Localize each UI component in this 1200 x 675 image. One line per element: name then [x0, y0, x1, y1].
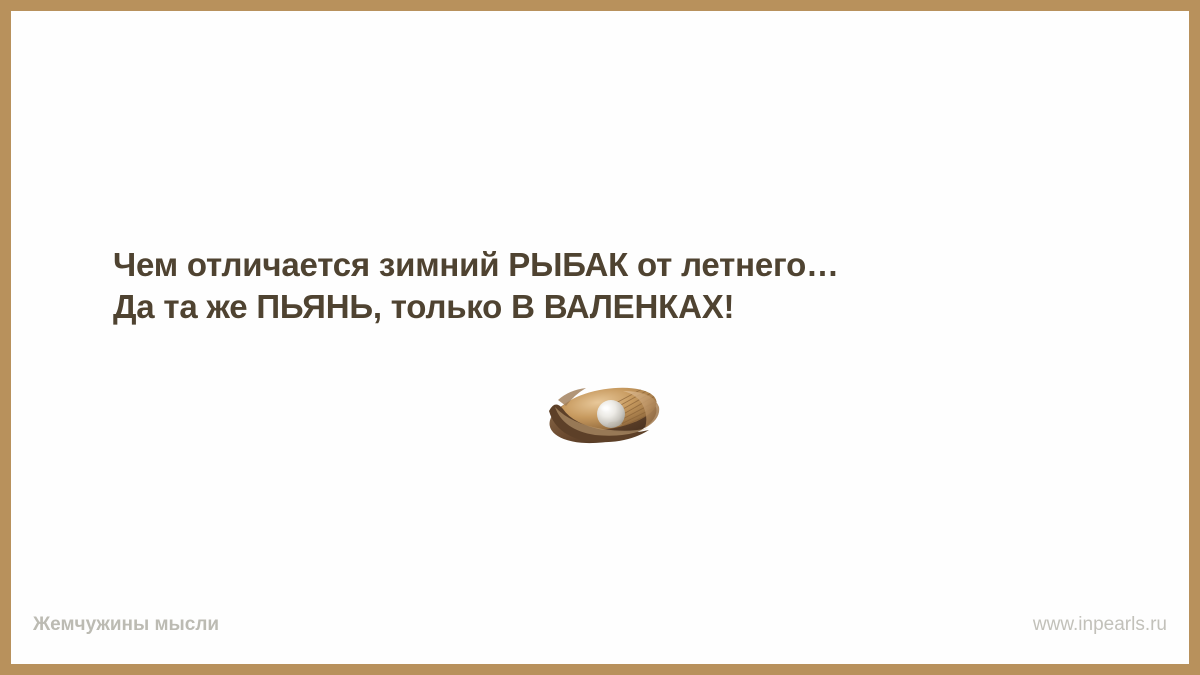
pearl-shadow: [608, 422, 622, 427]
oyster-shell-with-pearl-image: [545, 383, 667, 445]
quote-block: Чем отличается зимний РЫБАК от летнего… …: [113, 244, 1103, 328]
pearl-highlight: [600, 404, 611, 412]
quote-card: Чем отличается зимний РЫБАК от летнего… …: [0, 0, 1200, 675]
quote-line-1: Чем отличается зимний РЫБАК от летнего…: [113, 244, 1103, 286]
footer: Жемчужины мысли www.inpearls.ru: [11, 613, 1189, 637]
brand-label: Жемчужины мысли: [33, 613, 219, 637]
quote-line-2: Да та же ПЬЯНЬ, только В ВАЛЕНКАХ!: [113, 286, 1103, 328]
shell-icon: [545, 383, 667, 445]
site-url-link[interactable]: www.inpearls.ru: [1033, 613, 1167, 637]
